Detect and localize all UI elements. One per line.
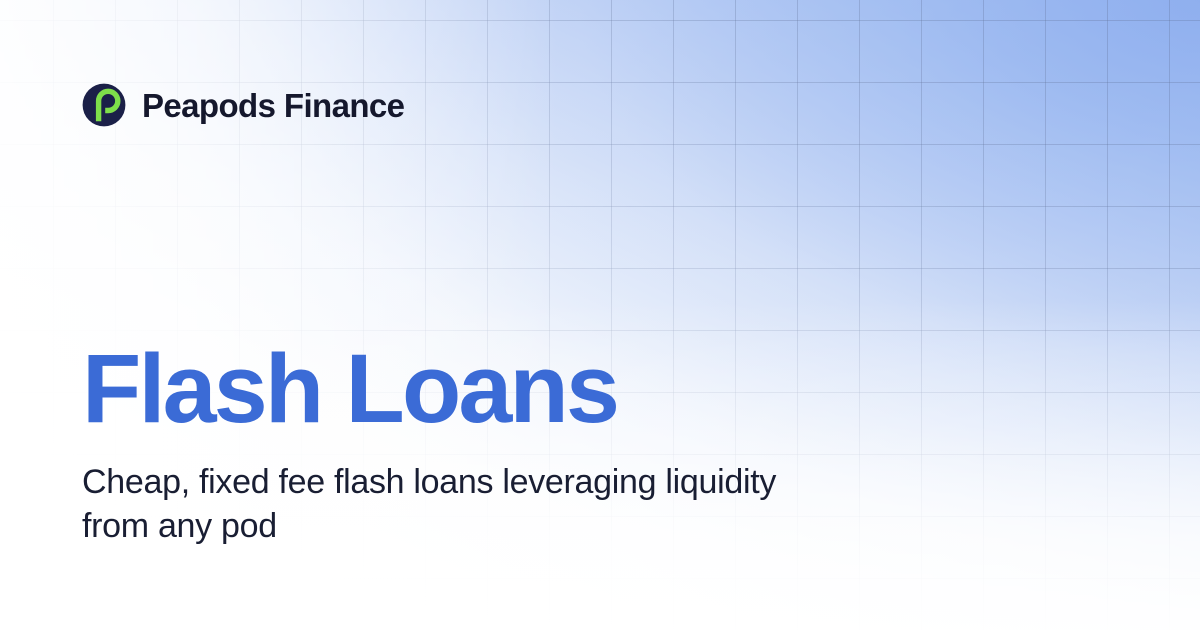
hero-copy-block: Flash Loans Cheap, fixed fee flash loans… [82, 340, 842, 548]
page-title: Flash Loans [82, 340, 842, 437]
peapods-p-logo-icon [82, 83, 126, 127]
brand-lockup: Peapods Finance [82, 82, 404, 128]
page-subtitle: Cheap, fixed fee flash loans leveraging … [82, 461, 782, 548]
brand-name: Peapods Finance [142, 89, 404, 122]
og-card: Peapods Finance Flash Loans Cheap, fixed… [0, 0, 1200, 630]
